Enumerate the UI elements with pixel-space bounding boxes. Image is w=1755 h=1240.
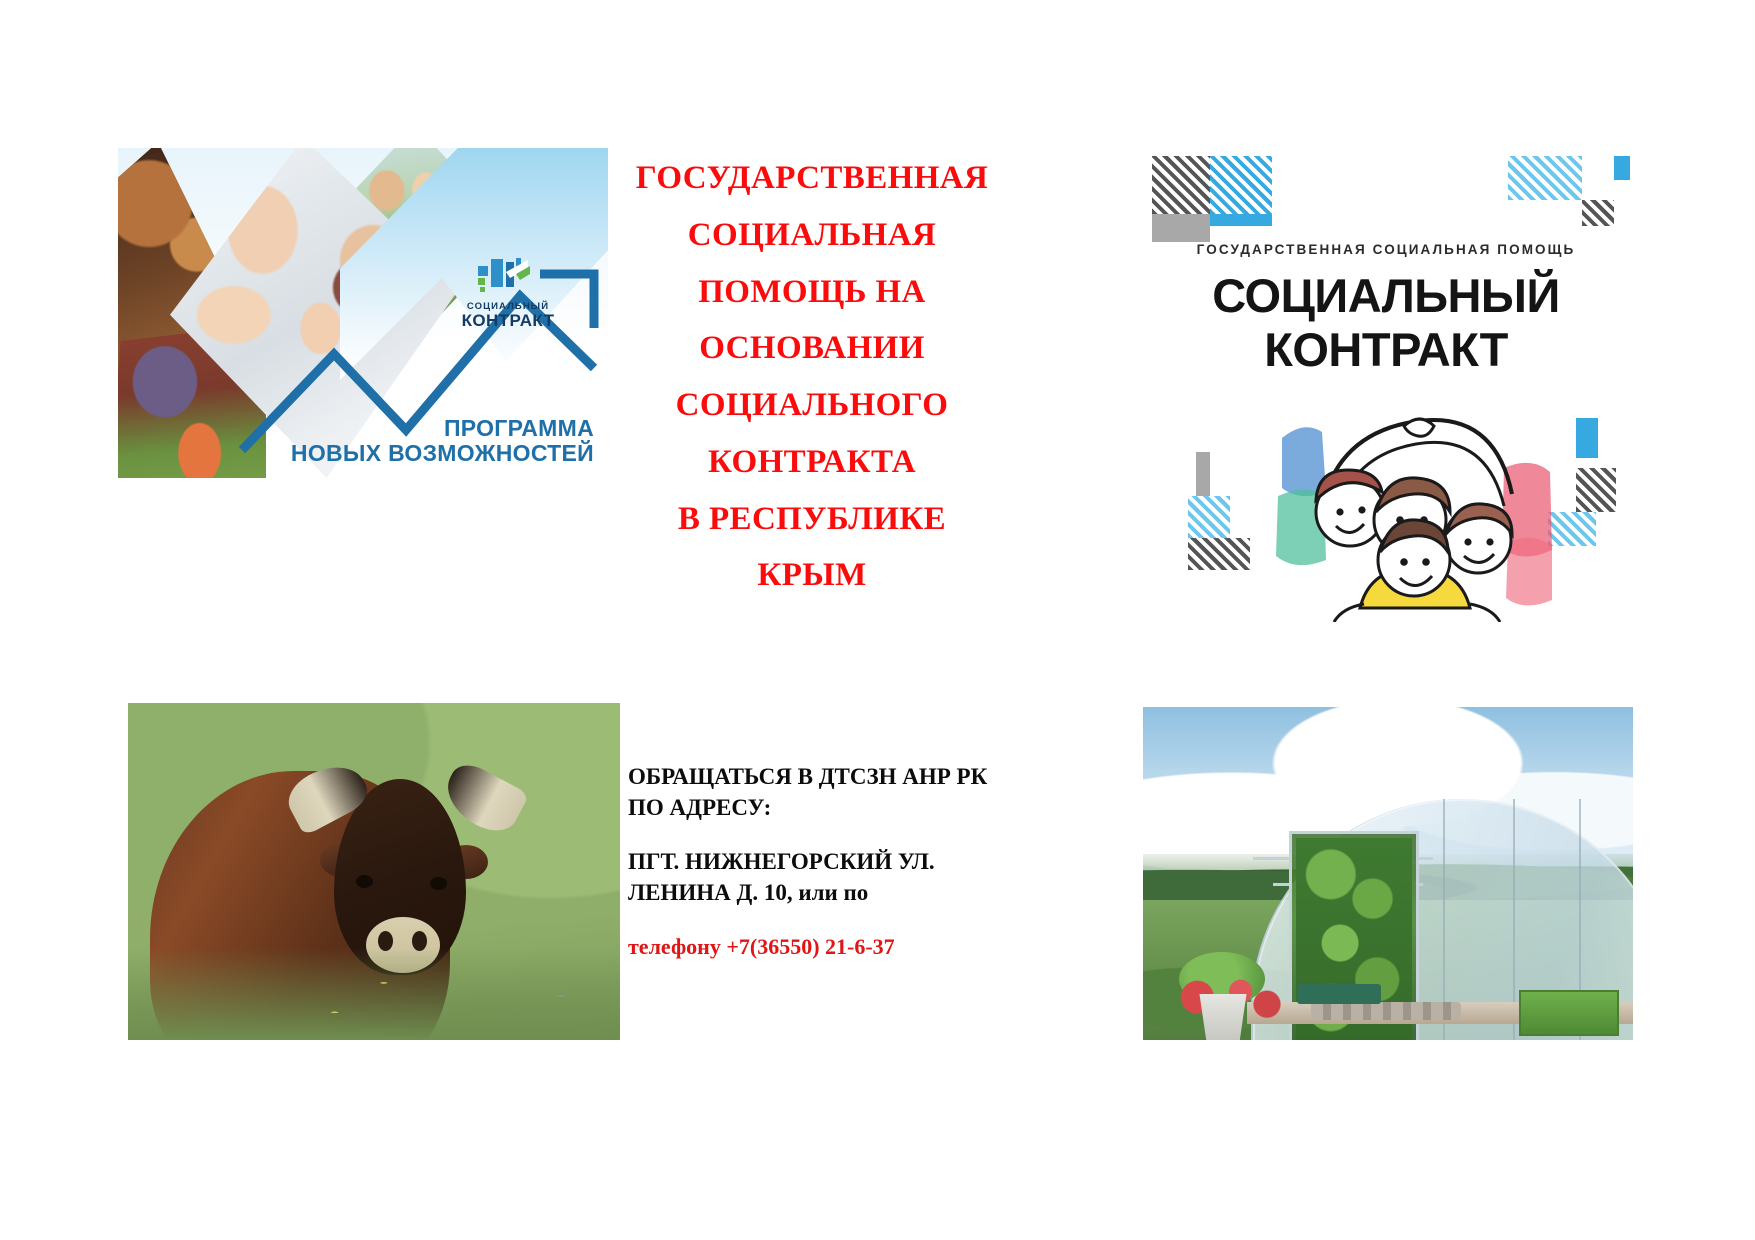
contact-office: ОБРАЩАТЬСЯ В ДТСЗН АНР РК ПО АДРЕСУ: <box>628 762 1048 823</box>
title-line-5: СОЦИАЛЬНОГО <box>612 377 1012 434</box>
banner-caption-line1: ПРОГРАММА <box>291 416 594 441</box>
deco-hatch-blue-topleft <box>1210 156 1272 214</box>
logo-word: КОНТРАКТ <box>448 312 568 329</box>
greenhouse-door-mat <box>1297 984 1381 1004</box>
page-title: ГОСУДАРСТВЕННАЯ СОЦИАЛЬНАЯ ПОМОЩЬ НА ОСН… <box>612 150 1012 604</box>
deco-solid-gray-topleft <box>1152 214 1210 242</box>
contact-office-line1: ОБРАЩАТЬСЯ В ДТСЗН АНР РК <box>628 762 1048 793</box>
title-line-6: КОНТРАКТА <box>612 434 1012 491</box>
deco-hatch-gray-topleft <box>1152 156 1210 214</box>
contact-street-line1: ПГТ. НИЖНЕГОРСКИЙ УЛ. <box>628 847 1048 878</box>
logo-mark-icon <box>476 256 540 298</box>
deco-solid-gray-bottomleft <box>1196 452 1210 496</box>
deco-hatch-gray-bottomleft <box>1188 538 1250 570</box>
contact-information: ОБРАЩАТЬСЯ В ДТСЗН АНР РК ПО АДРЕСУ: ПГТ… <box>628 762 1048 962</box>
deco-solid-blue-topright <box>1614 156 1630 180</box>
poster-heading-line2: КОНТРАКТ <box>1140 322 1632 377</box>
program-banner-image: СОЦИАЛЬНЫЙ КОНТРАКТ ПРОГРАММА НОВЫХ ВОЗМ… <box>118 148 608 478</box>
bull-eye-left <box>356 875 373 888</box>
contact-office-line2: ПО АДРЕСУ: <box>628 793 1048 824</box>
banner-caption: ПРОГРАММА НОВЫХ ВОЗМОЖНОСТЕЙ <box>291 416 594 466</box>
poster-kicker: ГОСУДАРСТВЕННАЯ СОЦИАЛЬНАЯ ПОМОЩЬ <box>1140 242 1632 257</box>
contact-street-line2: ЛЕНИНА Д. 10, или по <box>628 878 1048 909</box>
greenhouse-photo <box>1143 707 1633 1040</box>
bull-photo <box>128 703 620 1040</box>
deco-solid-blue-bottomright <box>1576 418 1598 458</box>
title-line-1: ГОСУДАРСТВЕННАЯ <box>612 150 1012 207</box>
title-line-3: ПОМОЩЬ НА <box>612 264 1012 321</box>
title-line-7: В РЕСПУБЛИКЕ <box>612 491 1012 548</box>
title-line-8: КРЫМ <box>612 547 1012 604</box>
social-contract-poster-image: ГОСУДАРСТВЕННАЯ СОЦИАЛЬНАЯ ПОМОЩЬ СОЦИАЛ… <box>1140 150 1640 635</box>
title-line-4: ОСНОВАНИИ <box>612 320 1012 377</box>
bull-eye-right <box>430 877 447 890</box>
deco-hatch-blue-topright <box>1508 156 1582 200</box>
greenhouse-garden-box <box>1519 990 1619 1036</box>
title-line-2: СОЦИАЛЬНАЯ <box>612 207 1012 264</box>
poster-heading-line1: СОЦИАЛЬНЫЙ <box>1140 268 1632 323</box>
contact-phone: телефону +7(36550) 21-6-37 <box>628 932 1048 961</box>
deco-solid-blue-topleft <box>1210 214 1272 226</box>
family-illustration-icon <box>1264 392 1564 622</box>
poster-page: СОЦИАЛЬНЫЙ КОНТРАКТ ПРОГРАММА НОВЫХ ВОЗМ… <box>0 0 1755 1240</box>
banner-caption-line2: НОВЫХ ВОЗМОЖНОСТЕЙ <box>291 441 594 466</box>
greenhouse-stone-border <box>1311 1002 1461 1020</box>
social-contract-logo: СОЦИАЛЬНЫЙ КОНТРАКТ <box>448 256 568 329</box>
bull-grass-foreground <box>128 948 620 1040</box>
contact-street: ПГТ. НИЖНЕГОРСКИЙ УЛ. ЛЕНИНА Д. 10, или … <box>628 847 1048 908</box>
deco-hatch-gray-bottomright <box>1576 468 1616 512</box>
deco-hatch-gray-topright <box>1582 200 1614 226</box>
deco-hatch-blue-bottomleft <box>1188 496 1230 538</box>
